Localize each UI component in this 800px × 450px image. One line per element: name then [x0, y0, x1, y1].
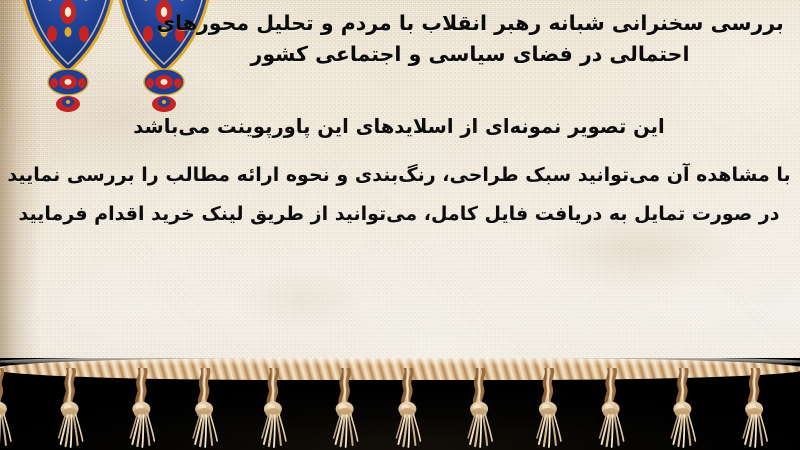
carpet-selvedge-highlight	[0, 358, 800, 366]
tassel	[131, 368, 161, 446]
slide-text-layer: بررسی سخنرانی شبانه رهبر انقلاب با مردم …	[0, 0, 800, 380]
page-title: بررسی سخنرانی شبانه رهبر انقلاب با مردم …	[150, 8, 790, 70]
tassel	[539, 368, 569, 446]
slide-canvas: بررسی سخنرانی شبانه رهبر انقلاب با مردم …	[0, 0, 800, 450]
body-line-2: با مشاهده آن می‌توانید سبک طراحی، رنگ‌بن…	[6, 160, 792, 190]
carpet-fringe-tassels	[0, 358, 800, 450]
tassel	[0, 368, 19, 446]
body-line-3: در صورت تمایل به دریافت فایل کامل، می‌تو…	[6, 199, 792, 229]
tassel	[397, 368, 427, 446]
tassel	[468, 368, 498, 446]
tassel	[264, 368, 294, 446]
tassel	[743, 368, 773, 446]
tassel	[335, 368, 365, 446]
tassel	[60, 368, 90, 446]
slide-body: این تصویر نمونه‌ای از اسلایدهای این پاور…	[6, 112, 792, 238]
tassel	[601, 368, 631, 446]
tassel	[193, 368, 223, 446]
body-line-lead: این تصویر نمونه‌ای از اسلایدهای این پاور…	[6, 112, 792, 142]
tassel	[672, 368, 702, 446]
